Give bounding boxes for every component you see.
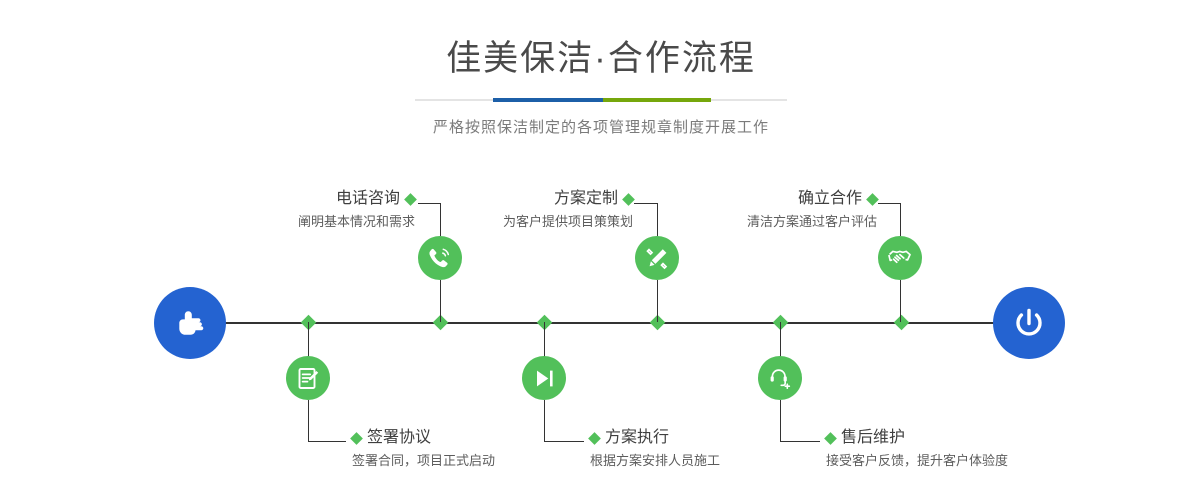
step-icon-6[interactable] bbox=[758, 356, 802, 400]
divider-segment-blue bbox=[493, 98, 603, 102]
power-button-icon bbox=[1008, 302, 1050, 344]
step-desc-6: 接受客户反馈，提升客户体验度 bbox=[826, 451, 1086, 471]
spine-marker bbox=[894, 315, 910, 331]
label-diamond-marker bbox=[404, 193, 417, 206]
step-title-5: 确立合作 bbox=[798, 189, 862, 209]
connector-vertical bbox=[440, 280, 441, 322]
connector-vertical bbox=[900, 280, 901, 322]
step-desc-4: 根据方案安排人员施工 bbox=[590, 451, 825, 471]
divider-segment-green bbox=[603, 98, 711, 102]
step-title-row-4: 方案执行 bbox=[590, 428, 825, 448]
connector-vertical bbox=[308, 400, 309, 441]
connector-vertical bbox=[440, 203, 441, 236]
title-divider bbox=[415, 94, 787, 106]
step-title-row-2: 签署协议 bbox=[352, 428, 582, 448]
timeline-start-node[interactable] bbox=[154, 287, 226, 359]
connector-vertical bbox=[657, 203, 658, 236]
customer-service-icon bbox=[768, 366, 793, 391]
connector-vertical bbox=[900, 203, 901, 236]
page-subtitle: 严格按照保洁制定的各项管理规章制度开展工作 bbox=[0, 116, 1202, 137]
infographic-canvas: 佳美保洁·合作流程 严格按照保洁制定的各项管理规章制度开展工作 bbox=[0, 0, 1202, 502]
step-title-row-1: 电话咨询 bbox=[230, 189, 415, 209]
step-icon-5[interactable] bbox=[878, 236, 922, 280]
label-diamond-marker bbox=[866, 193, 879, 206]
label-diamond-marker bbox=[350, 432, 363, 445]
connector-horizontal bbox=[780, 441, 820, 442]
handshake-icon bbox=[887, 245, 913, 271]
step-title-2: 签署协议 bbox=[367, 428, 431, 448]
pointing-hand-icon bbox=[169, 302, 211, 344]
step-label-3: 方案定制 为客户提供项目策策划 bbox=[448, 189, 633, 232]
step-title-row-6: 售后维护 bbox=[826, 428, 1086, 448]
connector-vertical bbox=[780, 400, 781, 441]
step-title-1: 电话咨询 bbox=[336, 189, 400, 209]
step-icon-4[interactable] bbox=[522, 356, 566, 400]
step-icon-3[interactable] bbox=[635, 236, 679, 280]
connector-vertical bbox=[544, 322, 545, 358]
step-label-1: 电话咨询 阐明基本情况和需求 bbox=[230, 189, 415, 232]
page-title: 佳美保洁·合作流程 bbox=[0, 38, 1202, 80]
step-icon-1[interactable] bbox=[418, 236, 462, 280]
connector-vertical bbox=[308, 322, 309, 358]
step-title-6: 售后维护 bbox=[841, 428, 905, 448]
step-desc-5: 清洁方案通过客户评估 bbox=[692, 212, 877, 232]
phone-call-icon bbox=[427, 245, 453, 271]
step-label-2: 签署协议 签署合同，项目正式启动 bbox=[352, 428, 582, 471]
timeline-end-node[interactable] bbox=[993, 287, 1065, 359]
label-diamond-marker bbox=[588, 432, 601, 445]
step-title-row-3: 方案定制 bbox=[448, 189, 633, 209]
play-execute-icon bbox=[532, 366, 557, 391]
step-title-3: 方案定制 bbox=[554, 189, 618, 209]
step-title-row-5: 确立合作 bbox=[692, 189, 877, 209]
connector-horizontal bbox=[634, 203, 658, 204]
connector-horizontal bbox=[308, 441, 346, 442]
step-desc-3: 为客户提供项目策策划 bbox=[448, 212, 633, 232]
step-desc-1: 阐明基本情况和需求 bbox=[230, 212, 415, 232]
connector-vertical bbox=[657, 280, 658, 322]
connector-vertical bbox=[544, 400, 545, 441]
pencil-ruler-icon bbox=[645, 246, 670, 271]
step-icon-2[interactable] bbox=[286, 356, 330, 400]
label-diamond-marker bbox=[824, 432, 837, 445]
header: 佳美保洁·合作流程 严格按照保洁制定的各项管理规章制度开展工作 bbox=[0, 0, 1202, 137]
step-label-6: 售后维护 接受客户反馈，提升客户体验度 bbox=[826, 428, 1086, 471]
connector-horizontal bbox=[878, 203, 901, 204]
connector-horizontal bbox=[418, 203, 441, 204]
connector-vertical bbox=[780, 322, 781, 358]
step-desc-2: 签署合同，项目正式启动 bbox=[352, 451, 582, 471]
connector-horizontal bbox=[544, 441, 584, 442]
step-label-4: 方案执行 根据方案安排人员施工 bbox=[590, 428, 825, 471]
step-title-4: 方案执行 bbox=[605, 428, 669, 448]
step-label-5: 确立合作 清洁方案通过客户评估 bbox=[692, 189, 877, 232]
document-pencil-icon bbox=[296, 366, 321, 391]
label-diamond-marker bbox=[622, 193, 635, 206]
